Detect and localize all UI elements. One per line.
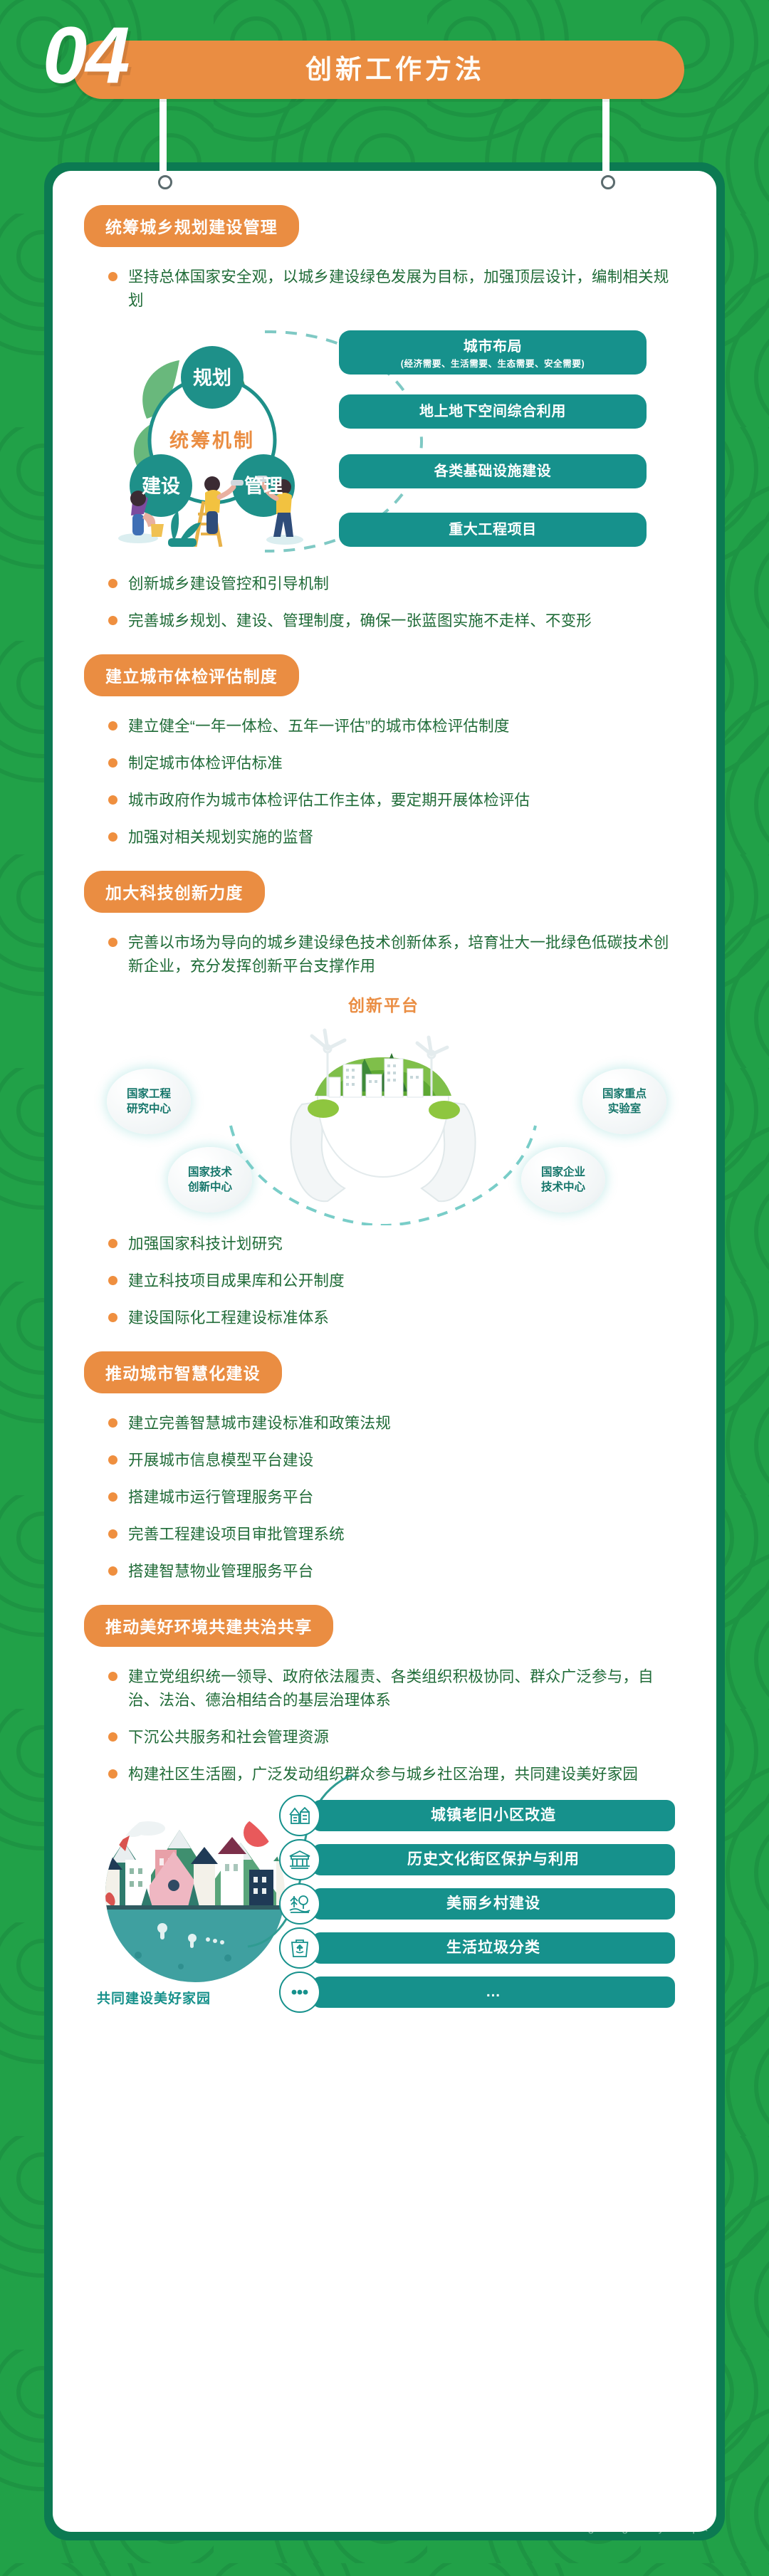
section-tech-innovation: 加大科技创新力度 完善以市场为导向的城乡建设绿色技术创新体系，培育壮大一批绿色低… [84,871,684,1330]
list-item: 搭建城市运行管理服务平台 [84,1486,684,1509]
diagram-one-bar-0-main: 城市布局 [339,330,647,355]
list-item: 加强国家科技计划研究 [84,1232,684,1256]
svg-text:管理: 管理 [244,476,283,497]
page-title: 创新工作方法 [242,41,548,99]
bullet-dot-icon [108,1492,117,1502]
bullet-list-bottom-1: 创新城乡建设管控和引导机制 完善城乡规划、建设、管理制度，确保一张蓝图实施不走样… [84,572,684,633]
hanger-right [602,89,610,185]
diagram-one-illustration: 规划 建设 管理 统筹机制 [105,333,319,547]
bullet-text: 加强对相关规划实施的监督 [128,826,684,849]
section-smart-city: 推动城市智慧化建设 建立完善智慧城市建设标准和政策法规 开展城市信息模型平台建设… [84,1351,684,1583]
list-item: 建立完善智慧城市建设标准和政策法规 [84,1412,684,1435]
bullet-dot-icon [108,1239,117,1248]
bullet-text: 完善工程建设项目审批管理系统 [128,1523,684,1546]
homeland-label-3: 生活垃圾分类 [312,1932,675,1964]
platform-node-national-enterprise-technology-center[interactable]: 国家企业 技术中心 [521,1147,605,1213]
bullet-list-4: 建立完善智慧城市建设标准和政策法规 开展城市信息模型平台建设 搭建城市运行管理服… [84,1412,684,1583]
list-item: 坚持总体国家安全观，以城乡建设绿色发展为目标，加强顶层设计，编制相关规划 [84,266,684,313]
bullet-text: 建立完善智慧城市建设标准和政策法规 [128,1412,684,1435]
bullet-text: 加强国家科技计划研究 [128,1232,684,1256]
list-item: 创新城乡建设管控和引导机制 [84,572,684,596]
bullet-list-top-3: 完善以市场为导向的城乡建设绿色技术创新体系，培育壮大一批绿色低碳技术创新企业，充… [84,931,684,978]
bullet-text: 下沉公共服务和社会管理资源 [128,1726,684,1749]
list-item: 完善工程建设项目审批管理系统 [84,1523,684,1546]
bullet-text: 建立党组织统一领导、政府依法履责、各类组织积极协同、群众广泛参与，自治、法治、德… [128,1665,684,1712]
bullet-text: 搭建城市运行管理服务平台 [128,1486,684,1509]
content-card: 统筹城乡规划建设管理 坚持总体国家安全观，以城乡建设绿色发展为目标，加强顶层设计… [53,171,716,2532]
svg-text:建设: 建设 [142,476,180,497]
platform-node-national-technology-innovation-center[interactable]: 国家技术 创新中心 [168,1147,252,1213]
bullet-dot-icon [108,1672,117,1681]
ellipsis-icon [279,1972,320,2013]
bullet-dot-icon [108,1529,117,1539]
diagram-beautiful-homeland: 城镇老旧小区改造 历史文化街区保护与利用 [84,1800,684,2025]
homeland-label-2: 美丽乡村建设 [312,1888,675,1920]
bullet-list-2: 建立健全“一年一体检、五年一评估”的城市体检评估制度 制定城市体检评估标准 城市… [84,715,684,849]
list-item: 开展城市信息模型平台建设 [84,1449,684,1472]
bullet-dot-icon [108,938,117,947]
diagram-one-bar-0-sub: (经济需要、生活需要、生态需要、安全需要) [339,356,647,370]
list-item: 完善城乡规划、建设、管理制度，确保一张蓝图实施不走样、不变形 [84,609,684,633]
bullet-text: 坚持总体国家安全观，以城乡建设绿色发展为目标，加强顶层设计，编制相关规划 [128,266,684,313]
section-title-urban-rural-planning[interactable]: 统筹城乡规划建设管理 [84,205,299,247]
hanger-left [159,89,167,185]
bullet-dot-icon [108,1769,117,1779]
bullet-text: 城市政府作为城市体检评估工作主体，要定期开展体检评估 [128,789,684,812]
bullet-text: 开展城市信息模型平台建设 [128,1449,684,1472]
list-item: 完善以市场为导向的城乡建设绿色技术创新体系，培育壮大一批绿色低碳技术创新企业，充… [84,931,684,978]
bullet-text: 制定城市体检评估标准 [128,752,684,775]
list-item: 建设国际化工程建设标准体系 [84,1307,684,1330]
bullet-dot-icon [108,832,117,842]
homeland-row-2[interactable]: 美丽乡村建设 [279,1888,675,1920]
bullet-dot-icon [108,758,117,768]
homeland-caption: 共同建设美好家园 [97,1988,211,2007]
node-line-2: 创新中心 [188,1180,232,1195]
list-item: 加强对相关规划实施的监督 [84,826,684,849]
bullet-text: 建设国际化工程建设标准体系 [128,1307,684,1330]
node-line-1: 国家工程 [127,1087,171,1101]
node-line-1: 国家企业 [541,1165,585,1180]
bullet-dot-icon [108,1276,117,1285]
section-title-smart-city[interactable]: 推动城市智慧化建设 [84,1351,282,1393]
homeland-label-1: 历史文化街区保护与利用 [312,1844,675,1875]
svg-text:规划: 规划 [193,367,231,389]
page-header: 04 创新工作方法 [0,0,769,164]
diagram-one-bar-0[interactable]: 城市布局 (经济需要、生活需要、生态需要、安全需要) [339,330,647,375]
section-shared-environment: 推动美好环境共建共治共享 建立党组织统一领导、政府依法履责、各类组织积极协同、群… [84,1605,684,1786]
node-line-1: 国家技术 [188,1165,232,1180]
node-line-1: 国家重点 [602,1087,647,1101]
section-urban-rural-planning: 统筹城乡规划建设管理 坚持总体国家安全观，以城乡建设绿色发展为目标，加强顶层设计… [84,205,684,633]
bullet-dot-icon [108,272,117,281]
list-item: 建立党组织统一领导、政府依法履责、各类组织积极协同、群众广泛参与，自治、法治、德… [84,1665,684,1712]
list-item: 构建社区生活圈，广泛发动组织群众参与城乡社区治理，共同建设美好家园 [84,1763,684,1786]
bullet-text: 完善以市场为导向的城乡建设绿色技术创新体系，培育壮大一批绿色低碳技术创新企业，充… [128,931,684,978]
bullet-text: 建立健全“一年一体检、五年一评估”的城市体检评估制度 [128,715,684,738]
diagram-one-bar-3[interactable]: 重大工程项目 [339,513,647,547]
list-item: 建立科技项目成果库和公开制度 [84,1269,684,1293]
bullet-dot-icon [108,1313,117,1322]
bullet-text: 创新城乡建设管控和引导机制 [128,572,684,596]
list-item: 建立健全“一年一体检、五年一评估”的城市体检评估制度 [84,715,684,738]
node-line-2: 实验室 [608,1101,642,1116]
svg-text:统筹机制: 统筹机制 [169,429,255,451]
bullet-dot-icon [108,1418,117,1428]
bullet-dot-icon [108,1566,117,1576]
homeland-row-0[interactable]: 城镇老旧小区改造 [279,1800,675,1831]
bullet-dot-icon [108,1732,117,1742]
homeland-label-4: … [312,1976,675,2008]
node-line-2: 技术中心 [541,1180,585,1195]
diagram-coordination-mechanism: 规划 建设 管理 统筹机制 城市布局 (经济需要、生活需要、生态需要、安全需要)… [84,326,684,554]
bullet-list-bottom-3: 加强国家科技计划研究 建立科技项目成果库和公开制度 建设国际化工程建设标准体系 [84,1232,684,1330]
section-title-shared-environment[interactable]: 推动美好环境共建共治共享 [84,1605,333,1647]
content-body: 统筹城乡规划建设管理 坚持总体国家安全观，以城乡建设绿色发展为目标，加强顶层设计… [53,171,716,2025]
credit-text: Painting Designed by Freepik [551,2522,708,2535]
platform-node-national-key-laboratory[interactable]: 国家重点 实验室 [582,1069,666,1134]
bullet-dot-icon [108,795,117,805]
section-city-physical-exam: 建立城市体检评估制度 建立健全“一年一体检、五年一评估”的城市体检评估制度 制定… [84,654,684,849]
section-title-tech-innovation[interactable]: 加大科技创新力度 [84,871,265,913]
diagram-one-bar-1[interactable]: 地上地下空间综合利用 [339,394,647,429]
bullet-dot-icon [108,579,117,588]
bullet-text: 搭建智慧物业管理服务平台 [128,1560,684,1583]
bullet-text: 建立科技项目成果库和公开制度 [128,1269,684,1293]
list-item: 搭建智慧物业管理服务平台 [84,1560,684,1583]
list-item: 城市政府作为城市体检评估工作主体，要定期开展体检评估 [84,789,684,812]
homeland-row-4[interactable]: … [279,1976,675,2008]
beautiful-village-icon [279,1883,320,1925]
bullet-list-5: 建立党组织统一领导、政府依法履责、各类组织积极协同、群众广泛参与，自治、法治、德… [84,1665,684,1786]
section-title-city-physical-exam[interactable]: 建立城市体检评估制度 [84,654,299,696]
platform-node-national-engineering-research-center[interactable]: 国家工程 研究中心 [107,1069,191,1134]
homeland-row-3[interactable]: 生活垃圾分类 [279,1932,675,1964]
historic-district-icon [279,1839,320,1880]
homeland-row-1[interactable]: 历史文化街区保护与利用 [279,1844,675,1875]
list-item: 下沉公共服务和社会管理资源 [84,1726,684,1749]
bullet-text: 完善城乡规划、建设、管理制度，确保一张蓝图实施不走样、不变形 [128,609,684,633]
diagram-one-bar-2[interactable]: 各类基础设施建设 [339,454,647,488]
old-neighborhood-icon [279,1795,320,1836]
homeland-label-0: 城镇老旧小区改造 [312,1800,675,1831]
bullet-text: 构建社区生活圈，广泛发动组织群众参与城乡社区治理，共同建设美好家园 [128,1763,684,1786]
bullet-dot-icon [108,616,117,625]
bullet-dot-icon [108,721,117,731]
bullet-dot-icon [108,1455,117,1465]
bullet-list-top-1: 坚持总体国家安全观，以城乡建设绿色发展为目标，加强顶层设计，编制相关规划 [84,266,684,313]
section-number: 04 [43,16,129,95]
node-line-2: 研究中心 [127,1101,171,1116]
list-item: 制定城市体检评估标准 [84,752,684,775]
diagram-innovation-platform: 创新平台 [84,992,684,1227]
waste-sorting-icon [279,1927,320,1969]
